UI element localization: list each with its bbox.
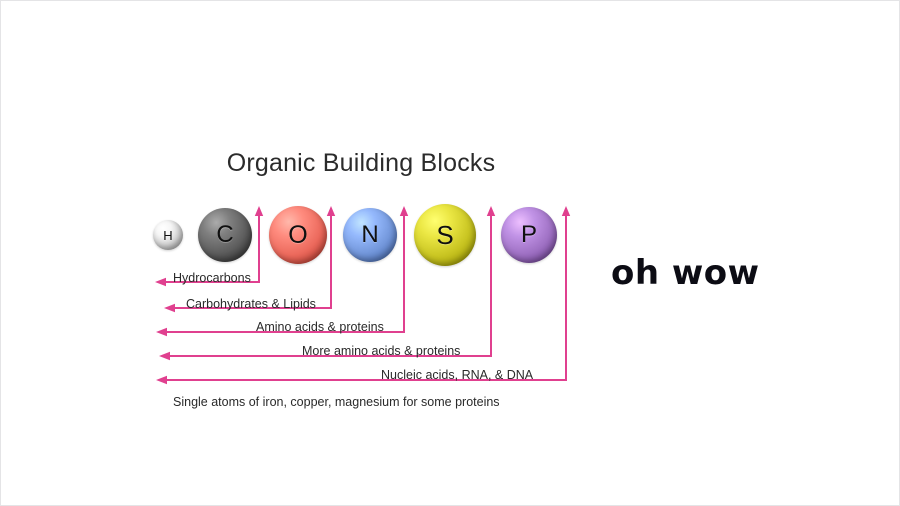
atom-sphere-oxygen: O <box>269 206 327 264</box>
arrowhead-left-4 <box>156 376 167 384</box>
diagram-caption: Single atoms of iron, copper, magnesium … <box>173 396 500 409</box>
arrowhead-left-3 <box>159 352 170 360</box>
atom-sphere-nitrogen: N <box>343 208 397 262</box>
arrowhead-up-4 <box>562 206 570 216</box>
overlay-caption: oh wow <box>611 253 760 293</box>
arrowhead-up-1 <box>327 206 335 216</box>
atom-symbol-nitrogen: N <box>361 223 378 247</box>
arrowhead-left-0 <box>155 278 166 286</box>
atom-sphere-carbon: C <box>198 208 252 262</box>
connector-label-0: Hydrocarbons <box>173 272 251 285</box>
connector-label-4: Nucleic acids, RNA, & DNA <box>381 369 533 382</box>
arrowhead-left-1 <box>164 304 175 312</box>
slide-canvas: Organic Building Blocks HCONSP Hydrocarb… <box>0 0 900 506</box>
atom-symbol-carbon: C <box>216 223 233 247</box>
arrowhead-up-3 <box>487 206 495 216</box>
arrowhead-up-0 <box>255 206 263 216</box>
connector-label-2: Amino acids & proteins <box>256 321 384 334</box>
atom-sphere-phosphorus: P <box>501 207 557 263</box>
atom-symbol-sulfur: S <box>436 222 453 248</box>
atom-sphere-sulfur: S <box>414 204 476 266</box>
atom-symbol-phosphorus: P <box>521 223 537 247</box>
arrowhead-up-2 <box>400 206 408 216</box>
page-title: Organic Building Blocks <box>1 149 721 178</box>
atom-symbol-oxygen: O <box>288 223 307 248</box>
arrowhead-left-2 <box>156 328 167 336</box>
connector-label-3: More amino acids & proteins <box>302 345 460 358</box>
connector-label-1: Carbohydrates & Lipids <box>186 298 316 311</box>
atom-symbol-hydrogen: H <box>163 229 172 242</box>
atom-sphere-hydrogen: H <box>153 220 183 250</box>
